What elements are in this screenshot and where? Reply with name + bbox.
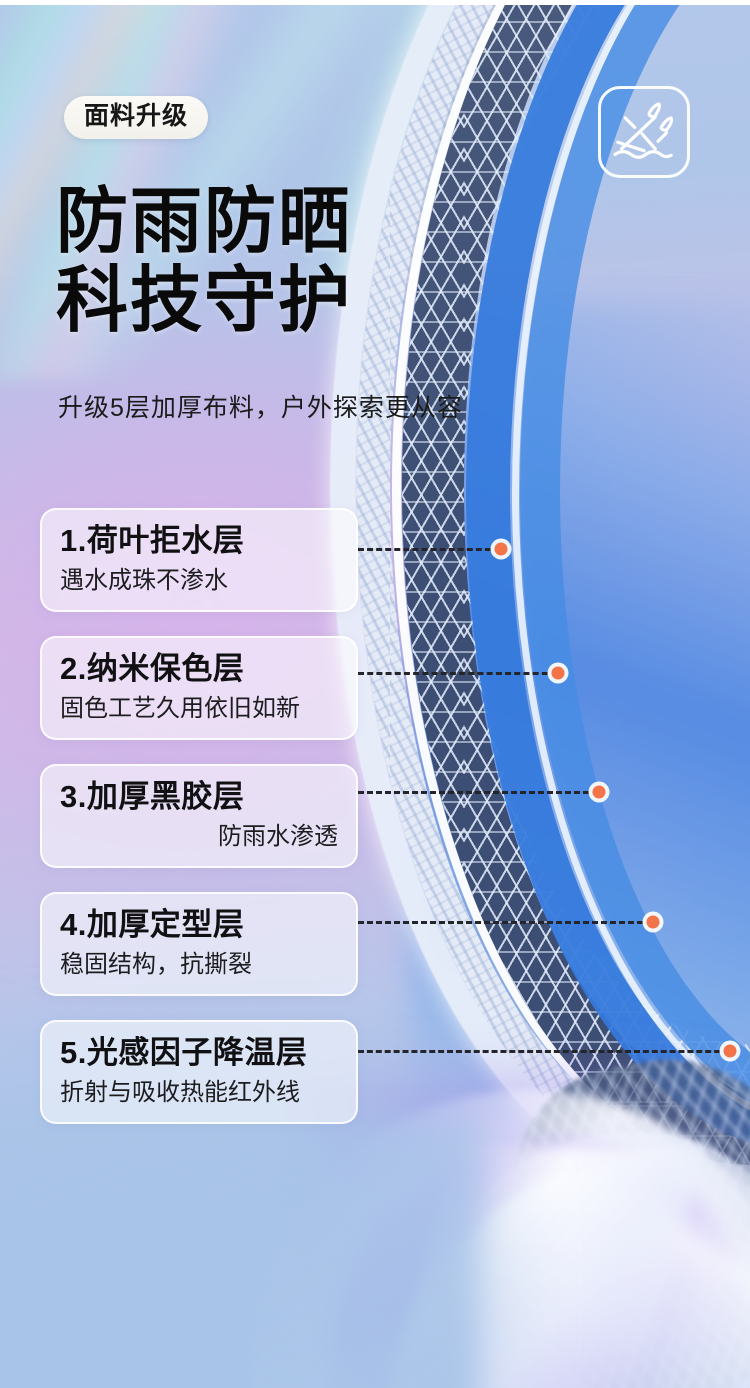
- connector-line-5: [358, 1050, 729, 1053]
- layer-card-1-desc: 遇水成珠不渗水: [60, 567, 338, 595]
- layer-card-2-desc: 固色工艺久用依旧如新: [60, 695, 338, 723]
- connector-line-2: [358, 672, 557, 675]
- layer-card-2[interactable]: 2.纳米保色层 固色工艺久用依旧如新: [40, 636, 358, 740]
- connector-dot-3: [593, 786, 606, 799]
- connector-dot-1: [495, 543, 508, 556]
- layer-card-4[interactable]: 4.加厚定型层 稳固结构，抗撕裂: [40, 892, 358, 996]
- layer-card-2-title: 2.纳米保色层: [60, 652, 338, 687]
- connector-line-1: [358, 548, 500, 551]
- layer-card-4-title: 4.加厚定型层: [60, 908, 338, 943]
- layer-card-5-desc: 折射与吸收热能红外线: [60, 1079, 338, 1107]
- layer-card-5-title: 5.光感因子降温层: [60, 1036, 338, 1071]
- layer-card-3[interactable]: 3.加厚黑胶层 防雨水渗透: [40, 764, 358, 868]
- connector-dot-5: [724, 1045, 737, 1058]
- layer-card-3-title: 3.加厚黑胶层: [60, 780, 338, 815]
- layer-card-1-title: 1.荷叶拒水层: [60, 524, 338, 559]
- product-detail-poster: 面料升级 防雨防晒 科技守护 升级5层加厚布料，户外探索更从容: [0, 0, 750, 1388]
- layer-card-4-desc: 稳固结构，抗撕裂: [60, 951, 338, 979]
- poster-content: 面料升级 防雨防晒 科技守护 升级5层加厚布料，户外探索更从容: [0, 0, 750, 1388]
- layer-card-1[interactable]: 1.荷叶拒水层 遇水成珠不渗水: [40, 508, 358, 612]
- connector-line-3: [358, 791, 598, 794]
- connector-dot-2: [552, 667, 565, 680]
- layer-card-5[interactable]: 5.光感因子降温层 折射与吸收热能红外线: [40, 1020, 358, 1124]
- connector-dot-4: [647, 916, 660, 929]
- connector-line-4: [358, 921, 652, 924]
- layer-card-3-desc: 防雨水渗透: [60, 823, 338, 851]
